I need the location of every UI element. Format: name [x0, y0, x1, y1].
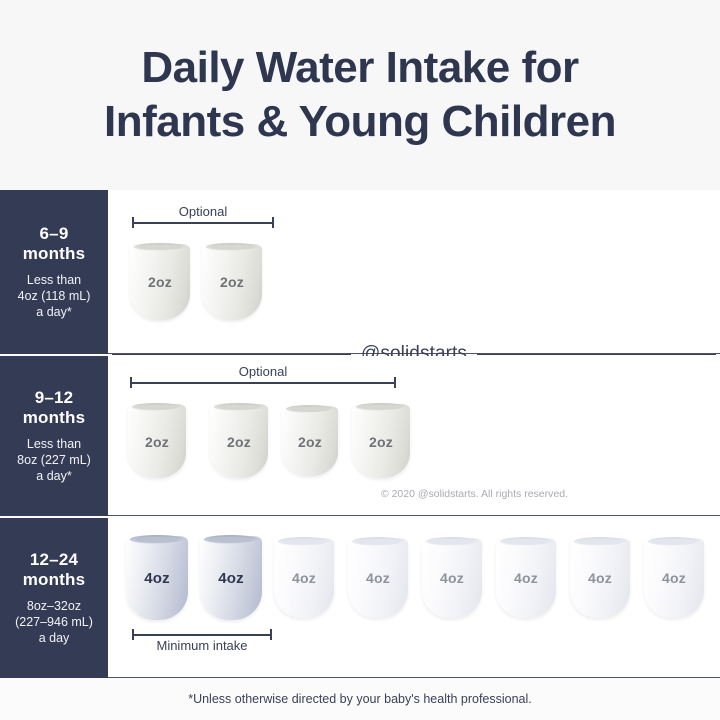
amount-line-2: 4oz (118 mL): [18, 289, 91, 303]
age-range-label: 6–9 months: [23, 224, 86, 262]
cup-4oz-3: 4oz: [274, 538, 334, 618]
bracket-optional-9-12: Optional: [130, 374, 396, 392]
cup-rim: [500, 537, 552, 546]
cup-volume-label: 2oz: [202, 274, 262, 290]
bracket-cap-left: [130, 377, 132, 388]
cup-4oz-4: 4oz: [348, 538, 408, 618]
bracket-cap-right: [272, 217, 274, 228]
cup-2oz-1: 2oz: [128, 404, 186, 478]
bracket-cap-left: [132, 217, 134, 228]
header-banner: Daily Water Intake for Infants & Young C…: [0, 0, 720, 191]
age-panel-9-12-months: 9–12 months Less than 8oz (227 mL) a day…: [0, 356, 108, 516]
copyright-notice: © 2020 @solidstarts. All rights reserved…: [381, 488, 568, 500]
row-9-12-months: 9–12 months Less than 8oz (227 mL) a day…: [0, 356, 720, 516]
title-line-1: Daily Water Intake for: [141, 43, 578, 92]
amount-line-3: a day: [39, 631, 70, 645]
cup-volume-label: 4oz: [422, 570, 482, 586]
cup-4oz-2: 4oz: [200, 536, 262, 620]
age-range-label: 9–12 months: [23, 388, 86, 426]
amount-line-3: a day*: [36, 469, 71, 483]
row-6-9-months: 6–9 months Less than 4oz (118 mL) a day*…: [0, 190, 720, 354]
row-12-24-months: 12–24 months 8oz–32oz (227–946 mL) a day…: [0, 518, 720, 678]
cup-rim: [426, 537, 478, 546]
bracket-label: Optional: [130, 364, 396, 379]
cup-2oz-2: 2oz: [202, 244, 262, 320]
footnote-text: *Unless otherwise directed by your baby'…: [188, 692, 532, 706]
bracket-minimum-intake: Minimum intake: [132, 626, 272, 644]
amount-line-2: (227–946 mL): [15, 615, 93, 629]
bracket-label: Optional: [132, 204, 274, 219]
cup-4oz-7: 4oz: [570, 538, 630, 618]
page-title: Daily Water Intake for Infants & Young C…: [104, 41, 616, 148]
cup-volume-label: 4oz: [274, 570, 334, 586]
age-unit-value: months: [23, 408, 86, 427]
age-range-value: 6–9: [40, 224, 69, 243]
cup-rim: [352, 537, 404, 546]
cups-area-12-24-months: 4oz 4oz 4oz 4oz 4oz: [108, 518, 720, 678]
cup-volume-label: 4oz: [496, 570, 556, 586]
amount-label: Less than 4oz (118 mL) a day*: [18, 272, 91, 320]
cup-2oz-4: 2oz: [352, 404, 410, 478]
row-divider-2: [108, 515, 720, 516]
watermark-rule-left: [112, 354, 351, 355]
age-range-value: 12–24: [30, 550, 78, 569]
cup-rim: [648, 537, 700, 546]
cup-4oz-6: 4oz: [496, 538, 556, 618]
cup-4oz-1: 4oz: [126, 536, 188, 620]
age-unit-value: months: [23, 244, 86, 263]
cup-volume-label: 4oz: [126, 570, 188, 587]
amount-line-1: Less than: [27, 273, 81, 287]
cup-2oz-2: 2oz: [210, 404, 268, 478]
age-panel-12-24-months: 12–24 months 8oz–32oz (227–946 mL) a day: [0, 518, 108, 678]
bracket-label: Minimum intake: [132, 638, 272, 653]
cup-volume-label: 2oz: [210, 434, 268, 450]
footer-band: *Unless otherwise directed by your baby'…: [0, 678, 720, 720]
age-unit-value: months: [23, 570, 86, 589]
cup-volume-label: 4oz: [200, 570, 262, 587]
cup-volume-label: 2oz: [282, 434, 338, 450]
bracket-optional-6-9: Optional: [132, 214, 274, 232]
cup-2oz-3: 2oz: [282, 406, 338, 476]
amount-line-2: 8oz (227 mL): [17, 453, 91, 467]
title-line-2: Infants & Young Children: [104, 95, 616, 149]
cup-volume-label: 4oz: [570, 570, 630, 586]
cup-volume-label: 2oz: [130, 274, 190, 290]
amount-line-3: a day*: [36, 305, 71, 319]
age-panel-6-9-months: 6–9 months Less than 4oz (118 mL) a day*: [0, 190, 108, 354]
amount-line-1: Less than: [27, 437, 81, 451]
cup-volume-label: 2oz: [128, 434, 186, 450]
bracket-bar: [130, 382, 396, 384]
amount-line-1: 8oz–32oz: [27, 599, 81, 613]
cup-4oz-8: 4oz: [644, 538, 704, 618]
bracket-bar: [132, 222, 274, 224]
cup-rim: [574, 537, 626, 546]
cup-volume-label: 4oz: [348, 570, 408, 586]
cup-2oz-1: 2oz: [130, 244, 190, 320]
cup-volume-label: 4oz: [644, 570, 704, 586]
amount-label: 8oz–32oz (227–946 mL) a day: [15, 598, 93, 646]
age-range-value: 9–12: [35, 388, 74, 407]
cups-area-6-9-months: Optional 2oz 2oz: [108, 190, 720, 354]
infographic-root: Daily Water Intake for Infants & Young C…: [0, 0, 720, 720]
cup-volume-label: 2oz: [352, 434, 410, 450]
bracket-cap-right: [394, 377, 396, 388]
cup-4oz-5: 4oz: [422, 538, 482, 618]
amount-label: Less than 8oz (227 mL) a day*: [17, 436, 91, 484]
cup-rim: [278, 537, 330, 546]
watermark-rule-right: [477, 354, 716, 355]
cup-rim: [286, 405, 334, 413]
age-range-label: 12–24 months: [23, 550, 86, 588]
bracket-bar: [132, 634, 272, 636]
